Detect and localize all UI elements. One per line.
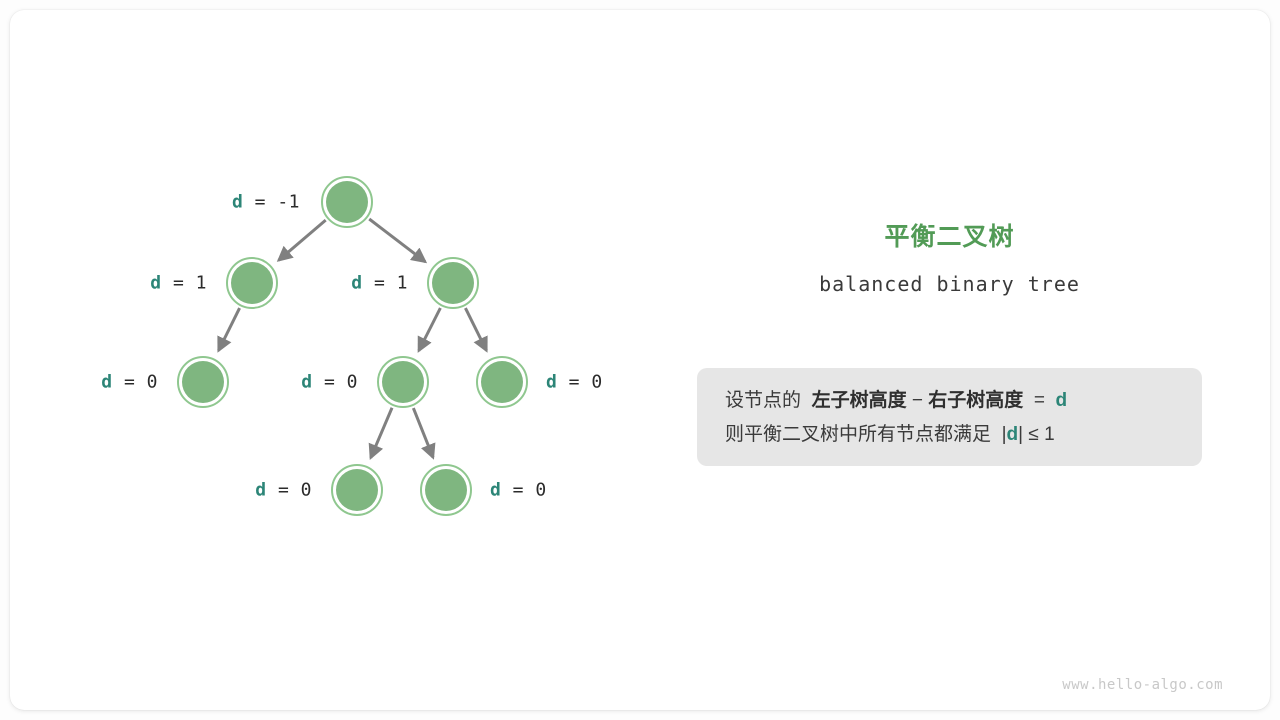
balance-factor-variable: d	[301, 372, 312, 393]
tree-node	[326, 181, 368, 223]
tree-edge	[419, 308, 441, 351]
balance-factor-value: = 0	[501, 480, 546, 501]
node-balance-factor-label: d = 0	[546, 372, 603, 393]
minus-operator: −	[912, 390, 923, 411]
node-balance-factor-label: d = 0	[255, 480, 312, 501]
illustration-canvas: d = -1d = 1d = 1d = 0d = 0d = 0d = 0d = …	[0, 0, 1280, 720]
definition-line-2: 则平衡二叉树中所有节点都满足 |d| ≤ 1	[725, 418, 1174, 452]
balance-factor-value: = 1	[363, 273, 408, 294]
tree-edge	[465, 308, 486, 351]
tree-edge	[369, 219, 425, 262]
tree-node	[231, 262, 273, 304]
tree-node	[425, 469, 467, 511]
abs-bar-close: |	[1018, 424, 1023, 445]
definition-box: 设节点的 左子树高度 − 右子树高度 = d 则平衡二叉树中所有节点都满足 |d…	[697, 368, 1202, 466]
balance-factor-value: = 0	[313, 372, 358, 393]
left-subtree-height-term: 左子树高度	[812, 390, 907, 411]
tree-edges	[219, 219, 487, 458]
balance-factor-value: = 0	[113, 372, 158, 393]
page-title: 平衡二叉树	[697, 222, 1202, 252]
node-balance-factor-label: d = 0	[301, 372, 358, 393]
balance-factor-variable-abs: d	[1007, 424, 1019, 445]
equals-operator: =	[1034, 390, 1045, 411]
balance-factor-variable: d	[1056, 390, 1068, 411]
balance-factor-variable: d	[232, 192, 243, 213]
balance-factor-variable: d	[490, 480, 501, 501]
condition-prefix: 则平衡二叉树中所有节点都满足	[725, 424, 991, 445]
node-balance-factor-label: d = -1	[232, 192, 300, 213]
right-subtree-height-term: 右子树高度	[928, 390, 1023, 411]
tree-edge	[413, 408, 433, 457]
tree-node	[481, 361, 523, 403]
tree-node	[382, 361, 424, 403]
node-balance-factor-label: d = 1	[150, 273, 207, 294]
less-equal-operator: ≤	[1028, 424, 1038, 445]
definition-prefix: 设节点的	[725, 390, 801, 411]
node-balance-factor-label: d = 1	[351, 273, 408, 294]
balance-factor-value: = 0	[267, 480, 312, 501]
tree-edge	[219, 308, 240, 351]
node-balance-factor-label: d = 0	[101, 372, 158, 393]
node-balance-factor-label: d = 0	[490, 480, 547, 501]
condition-value: 1	[1044, 424, 1055, 445]
balance-factor-value: = -1	[243, 192, 300, 213]
tree-node	[182, 361, 224, 403]
binary-tree-diagram	[0, 0, 1280, 720]
balance-factor-variable: d	[101, 372, 112, 393]
title-panel: 平衡二叉树 balanced binary tree	[697, 222, 1202, 296]
balance-factor-variable: d	[546, 372, 557, 393]
balance-factor-value: = 1	[162, 273, 207, 294]
balance-factor-variable: d	[150, 273, 161, 294]
tree-edge	[371, 408, 392, 458]
definition-line-1: 设节点的 左子树高度 − 右子树高度 = d	[725, 384, 1174, 418]
tree-node	[432, 262, 474, 304]
balance-factor-variable: d	[351, 273, 362, 294]
tree-edge	[279, 220, 326, 260]
balance-factor-value: = 0	[557, 372, 602, 393]
tree-nodes	[178, 177, 527, 515]
tree-node	[336, 469, 378, 511]
balance-factor-variable: d	[255, 480, 266, 501]
page-subtitle: balanced binary tree	[697, 272, 1202, 296]
site-watermark: www.hello-algo.com	[1062, 677, 1223, 693]
